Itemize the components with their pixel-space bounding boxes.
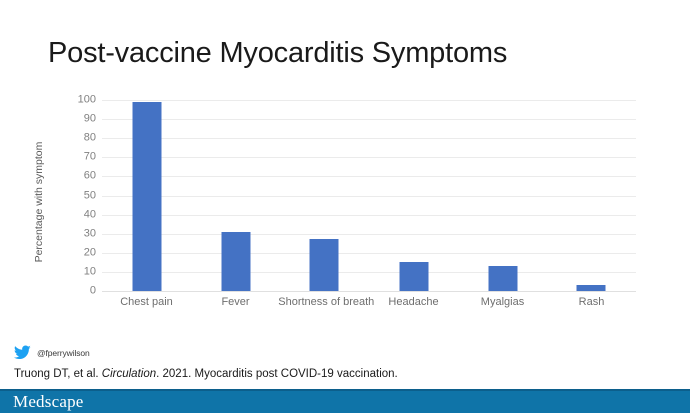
twitter-bird-icon bbox=[14, 345, 31, 360]
y-tick-label: 20 bbox=[84, 247, 96, 258]
citation-journal: Circulation bbox=[102, 368, 156, 380]
y-tick-label: 60 bbox=[84, 171, 96, 182]
axis-baseline bbox=[102, 291, 636, 292]
y-axis-title: Percentage with symptom bbox=[33, 107, 45, 297]
twitter-handle: @fperrywilson bbox=[37, 348, 90, 358]
bar-chart: Percentage with symptom 100 90 80 70 60 … bbox=[0, 0, 690, 340]
x-tick-label-headache: Headache bbox=[369, 296, 458, 310]
bar-myalgias[interactable] bbox=[488, 266, 517, 291]
x-tick-label-rash: Rash bbox=[547, 296, 636, 310]
y-tick-label: 100 bbox=[78, 95, 96, 106]
bar-slot bbox=[369, 100, 458, 291]
bar-slot bbox=[547, 100, 636, 291]
medscape-logo: Medscape bbox=[13, 392, 84, 412]
x-tick-label-chest-pain: Chest pain bbox=[102, 296, 191, 310]
medscape-footer-bar: Medscape bbox=[0, 389, 690, 413]
y-tick-label: 10 bbox=[84, 266, 96, 277]
bar-chest-pain[interactable] bbox=[132, 102, 161, 291]
y-tick-label: 40 bbox=[84, 209, 96, 220]
bar-rash[interactable] bbox=[577, 285, 606, 291]
x-axis-tick-labels: Chest pain Fever Shortness of breath Hea… bbox=[102, 296, 636, 336]
bar-slot bbox=[458, 100, 547, 291]
bar-shortness-of-breath[interactable] bbox=[310, 239, 339, 291]
y-axis-tick-labels: 100 90 80 70 60 50 40 30 20 10 0 bbox=[62, 100, 96, 291]
twitter-credit: @fperrywilson bbox=[14, 345, 90, 360]
bar-slot bbox=[102, 100, 191, 291]
bar-fever[interactable] bbox=[221, 232, 250, 291]
bar-slot bbox=[191, 100, 280, 291]
slide-canvas: Post-vaccine Myocarditis Symptoms Percen… bbox=[0, 0, 690, 413]
bar-headache[interactable] bbox=[399, 262, 428, 291]
x-tick-label-fever: Fever bbox=[191, 296, 280, 310]
citation-details: . 2021. Myocarditis post COVID-19 vaccin… bbox=[156, 368, 398, 380]
bar-series bbox=[102, 100, 636, 291]
y-tick-label: 0 bbox=[90, 286, 96, 297]
x-tick-label-myalgias: Myalgias bbox=[458, 296, 547, 310]
bar-slot bbox=[280, 100, 369, 291]
y-tick-label: 90 bbox=[84, 114, 96, 125]
y-tick-label: 80 bbox=[84, 133, 96, 144]
citation: Truong DT, et al. Circulation. 2021. Myo… bbox=[14, 368, 398, 380]
x-tick-label-shortness-of-breath: Shortness of breath bbox=[276, 296, 376, 310]
y-tick-label: 50 bbox=[84, 190, 96, 201]
citation-authors: Truong DT, et al. bbox=[14, 368, 99, 380]
y-tick-label: 30 bbox=[84, 228, 96, 239]
y-tick-label: 70 bbox=[84, 152, 96, 163]
